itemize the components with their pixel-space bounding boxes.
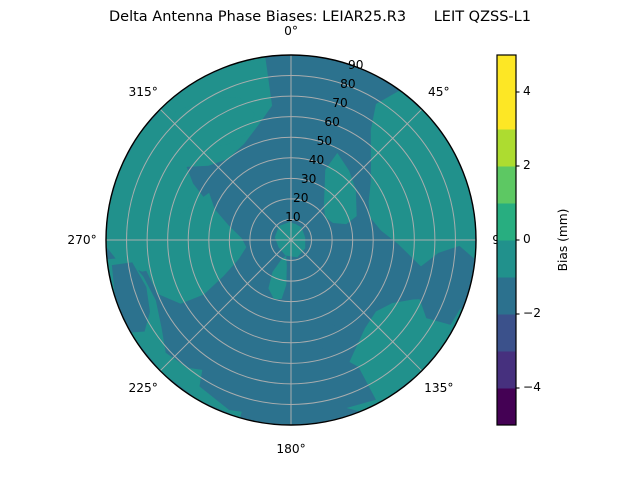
radial-tick-label-70: 70 bbox=[332, 96, 348, 110]
angular-tick-label-270: 270° bbox=[67, 233, 96, 247]
angular-tick-label-135: 135° bbox=[424, 381, 453, 395]
radial-tick-label-30: 30 bbox=[301, 172, 317, 186]
angular-tick-label-0: 0° bbox=[284, 24, 298, 38]
colorbar-axis-label: Bias (mm) bbox=[556, 60, 570, 180]
colorbar-tick--2: −2 bbox=[523, 306, 541, 320]
radial-tick-label-80: 80 bbox=[340, 77, 356, 91]
radial-tick-label-20: 20 bbox=[293, 191, 309, 205]
angular-tick-label-90: 90 bbox=[492, 233, 508, 247]
figure-canvas: Delta Antenna Phase Biases: LEIAR25.R3 L… bbox=[0, 0, 640, 480]
colorbar-tick-4: 4 bbox=[523, 84, 531, 98]
colorbar-tick-2: 2 bbox=[523, 158, 531, 172]
radial-tick-label-90: 90 bbox=[348, 58, 364, 72]
angular-tick-label-225: 225° bbox=[129, 381, 158, 395]
radial-tick-label-50: 50 bbox=[317, 134, 333, 148]
angular-tick-label-45: 45° bbox=[428, 85, 450, 99]
colorbar-tick--4: −4 bbox=[523, 380, 541, 394]
colorbar-tick-0: 0 bbox=[523, 232, 531, 246]
angular-tick-label-315: 315° bbox=[129, 85, 158, 99]
radial-tick-label-10: 10 bbox=[285, 210, 301, 224]
angular-tick-label-180: 180° bbox=[276, 442, 305, 456]
radial-tick-label-40: 40 bbox=[309, 153, 325, 167]
colorbar-axis-label-text: Bias (mm) bbox=[556, 180, 570, 300]
radial-tick-label-60: 60 bbox=[324, 115, 340, 129]
